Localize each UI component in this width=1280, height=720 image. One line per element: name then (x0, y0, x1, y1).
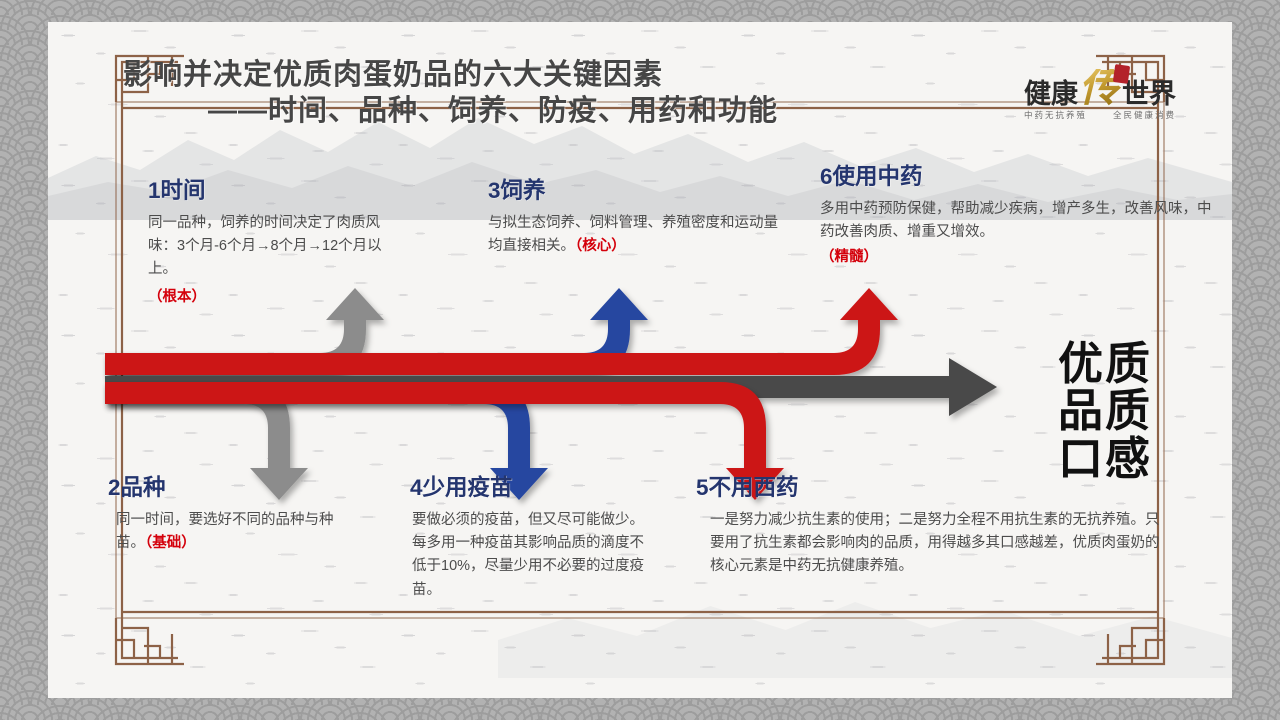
factor-title-chinese-medicine: 6使用中药 (820, 166, 1218, 189)
logo-tagline-left: 中药无抗养殖 (1024, 109, 1087, 121)
outcome-line-2: 品质 (1058, 387, 1218, 434)
factor-body-no-western-medicine: 一是努力减少抗生素的使用；二是努力全程不用抗生素的无抗养殖。只要用了抗生素都会影… (696, 509, 1166, 579)
factor-body-chinese-medicine: 多用中药预防保健，帮助减少疾病，增产多生，改善风味，中药改善肉质、增重又增效。 (820, 198, 1218, 245)
logo-word-health: 健康 (1024, 81, 1078, 108)
factor-tag-time: （根本） (148, 286, 393, 309)
factor-block-no-western-medicine: 5不用西药 一是努力减少抗生素的使用；二是努力全程不用抗生素的无抗养殖。只要用了… (696, 477, 1166, 579)
factor-block-chinese-medicine: 6使用中药 多用中药预防保健，帮助减少疾病，增产多生，改善风味，中药改善肉质、增… (820, 166, 1218, 270)
factor-title-time: 1时间 (148, 180, 393, 203)
arrow-dark-main (105, 358, 997, 416)
logo-word-world: 世界 (1122, 81, 1176, 108)
factor-block-feeding: 3饲养 与拟生态饲养、饲料管理、养殖密度和运动量均直接相关。（核心） (488, 180, 788, 258)
factor-title-vaccine: 4少用疫苗 (410, 477, 654, 500)
slide-header: 影响并决定优质肉蛋奶品的六大关键因素 ——时间、品种、饲养、防疫、用药和功能 健… (48, 58, 1232, 131)
outcome-label: 优质 品质 口感 (1058, 340, 1218, 482)
factor-body-feeding: 与拟生态饲养、饲料管理、养殖密度和运动量均直接相关。（核心） (488, 212, 788, 259)
brand-logo: 健康 传 世界 中药无抗养殖 全民健康消费 (1000, 66, 1200, 121)
logo-wordmark: 健康 传 世界 (1000, 66, 1200, 108)
factor-tag-breed: （基础） (145, 535, 196, 551)
factor-block-breed: 2品种 同一时间，要选好不同的品种与种苗。（基础） (108, 477, 358, 555)
factor-block-vaccine: 4少用疫苗 要做必须的疫苗，但又尽可能做少。每多用一种疫苗其影响品质的滴度不低于… (410, 477, 654, 602)
logo-tagline-right: 全民健康消费 (1113, 109, 1176, 121)
outcome-line-3: 口感 (1058, 435, 1218, 482)
outcome-line-1: 优质 (1058, 340, 1218, 387)
logo-seal-icon (1113, 64, 1130, 84)
factor-body-vaccine: 要做必须的疫苗，但又尽可能做少。每多用一种疫苗其影响品质的滴度不低于10%，尽量… (410, 509, 654, 603)
factor-tag-feeding: （核心） (575, 238, 626, 254)
factor-body-breed: 同一时间，要选好不同的品种与种苗。（基础） (108, 509, 358, 556)
logo-word-chuan: 传 (1079, 69, 1121, 108)
factor-title-feeding: 3饲养 (488, 180, 788, 203)
factor-title-breed: 2品种 (108, 477, 358, 500)
factor-tag-chinese-medicine: （精髓） (820, 246, 1218, 269)
slide-canvas: 影响并决定优质肉蛋奶品的六大关键因素 ——时间、品种、饲养、防疫、用药和功能 健… (48, 22, 1232, 698)
factor-body-time: 同一品种，饲养的时间决定了肉质风味：3个月-6个月→8个月→12个月以上。 (148, 212, 393, 282)
factor-block-time: 1时间 同一品种，饲养的时间决定了肉质风味：3个月-6个月→8个月→12个月以上… (148, 180, 393, 309)
